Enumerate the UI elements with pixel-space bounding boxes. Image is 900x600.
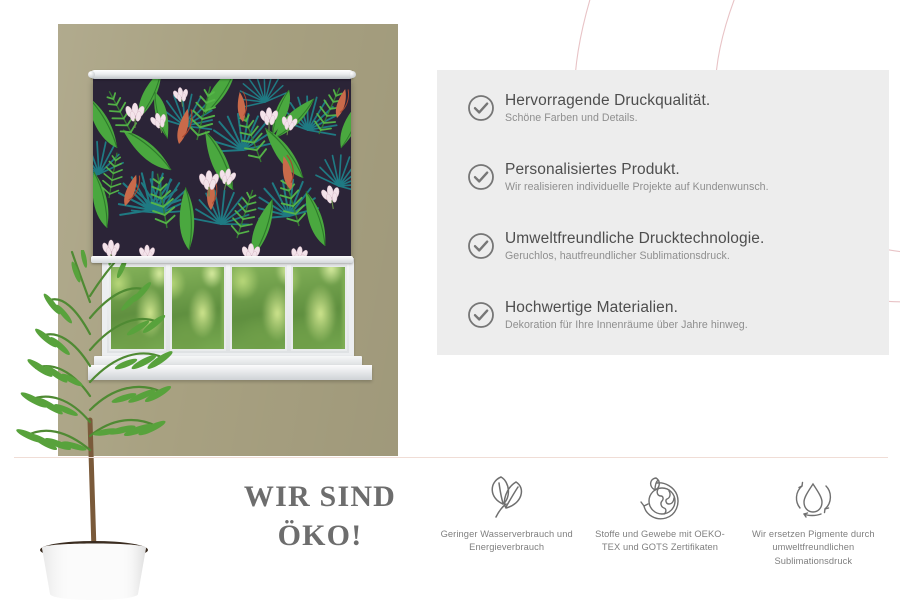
window-pane <box>291 265 348 351</box>
check-circle-icon <box>467 94 495 122</box>
eco-caption: Stoffe und Gewebe mit OEKO-TEX und GOTS … <box>590 528 730 555</box>
eco-items: Geringer Wasserverbrauch und Energieverb… <box>430 470 890 590</box>
features-panel: Hervorragende Druckqualität. Schöne Farb… <box>437 70 889 355</box>
section-divider <box>14 457 888 458</box>
feature-subtitle: Wir realisieren individuelle Projekte au… <box>505 181 867 195</box>
feature-subtitle: Schöne Farben und Details. <box>505 112 867 126</box>
leaves-icon <box>480 470 534 524</box>
feature-item: Personalisiertes Produkt. Wir realisiere… <box>467 161 867 203</box>
feature-title: Umweltfreundliche Drucktechnologie. <box>505 230 867 248</box>
eco-caption: Geringer Wasserverbrauch und Energieverb… <box>437 528 577 555</box>
feature-list: Hervorragende Druckqualität. Schöne Farb… <box>467 92 867 341</box>
eco-headline: WIR SIND ÖKO! <box>205 477 435 555</box>
eco-item: Wir ersetzen Pigmente durch umweltfreund… <box>737 470 890 590</box>
feature-title: Hochwertige Materialien. <box>505 299 867 317</box>
feature-title: Personalisiertes Produkt. <box>505 161 867 179</box>
feature-item: Hervorragende Druckqualität. Schöne Farb… <box>467 92 867 134</box>
eco-headline-line1: WIR SIND <box>205 477 435 516</box>
feature-subtitle: Geruchlos, hautfreundlicher Sublimations… <box>505 250 867 264</box>
infographic-canvas: Hervorragende Druckqualität. Schöne Farb… <box>0 0 900 600</box>
feature-item: Hochwertige Materialien. Dekoration für … <box>467 299 867 341</box>
eco-headline-line2: ÖKO! <box>205 516 435 555</box>
roller-end-cap-right <box>349 71 356 78</box>
feature-item: Umweltfreundliche Drucktechnologie. Geru… <box>467 230 867 272</box>
roller-tube <box>90 70 354 79</box>
globe-leaf-icon <box>633 470 687 524</box>
roller-end-cap-left <box>88 71 95 78</box>
potted-plant <box>0 250 196 600</box>
feature-title: Hervorragende Druckqualität. <box>505 92 867 110</box>
blind-bottom-bar <box>91 256 353 263</box>
eco-item: Stoffe und Gewebe mit OEKO-TEX und GOTS … <box>583 470 736 590</box>
check-circle-icon <box>467 163 495 191</box>
water-drop-recycle-icon <box>786 470 840 524</box>
blind-fabric-tropical-pattern <box>93 78 351 258</box>
window-pane <box>230 265 287 351</box>
eco-item: Geringer Wasserverbrauch und Energieverb… <box>430 470 583 590</box>
feature-subtitle: Dekoration für Ihre Innenräume über Jahr… <box>505 319 867 333</box>
check-circle-icon <box>467 301 495 329</box>
eco-caption: Wir ersetzen Pigmente durch umweltfreund… <box>743 528 883 568</box>
check-circle-icon <box>467 232 495 260</box>
roller-blind <box>88 70 356 266</box>
